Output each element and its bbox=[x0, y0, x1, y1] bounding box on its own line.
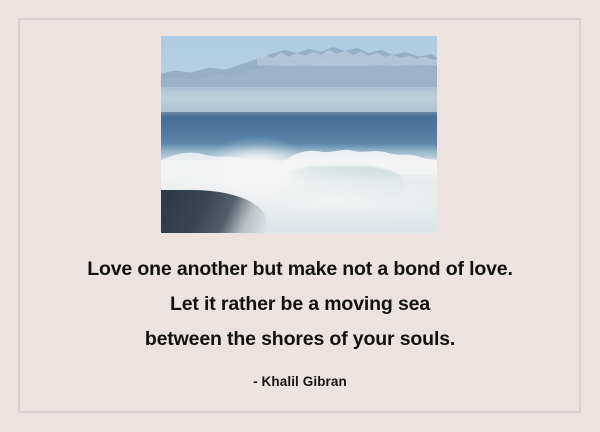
ocean-photograph bbox=[161, 36, 437, 233]
quote-attribution: - Khalil Gibran bbox=[30, 374, 570, 389]
quote-text-block: Love one another but make not a bond of … bbox=[30, 252, 570, 357]
quote-line-2: Let it rather be a moving sea bbox=[30, 287, 570, 322]
photo-atmospheric-haze bbox=[161, 87, 437, 113]
photo-mountain-ridge bbox=[161, 44, 437, 91]
quote-card: Love one another but make not a bond of … bbox=[0, 0, 600, 432]
quote-line-1: Love one another but make not a bond of … bbox=[30, 252, 570, 287]
quote-line-3: between the shores of your souls. bbox=[30, 322, 570, 357]
